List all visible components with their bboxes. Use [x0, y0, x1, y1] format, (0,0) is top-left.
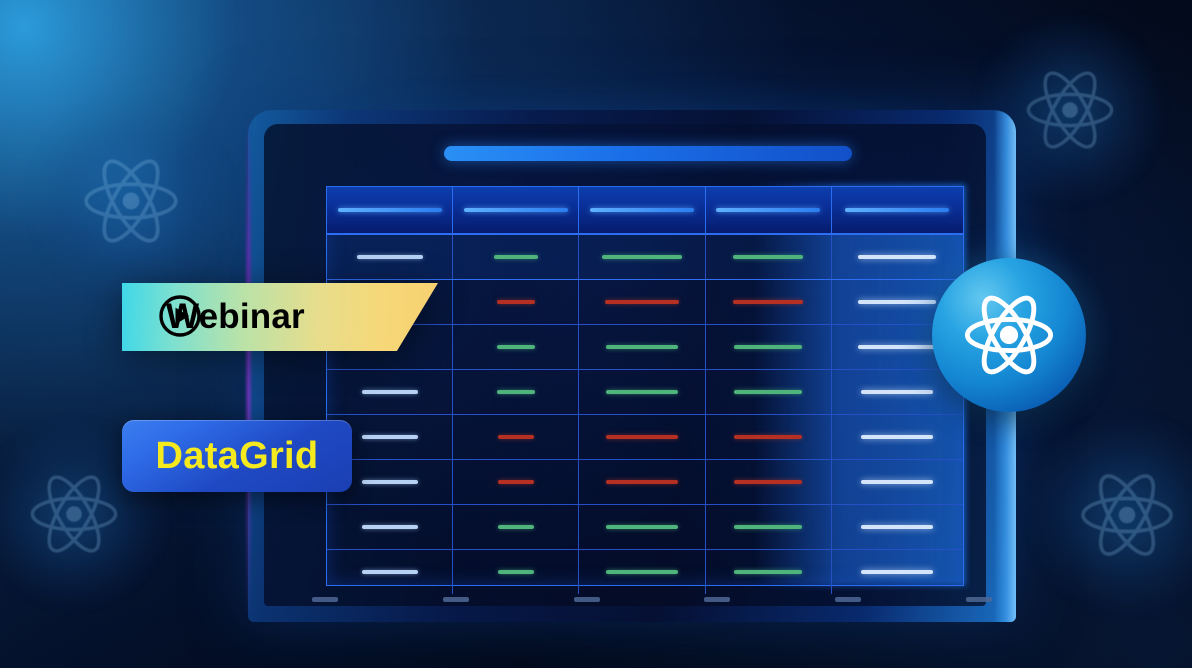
grid-cell[interactable]	[706, 325, 832, 369]
cell-value-bar	[494, 255, 538, 259]
grid-cell[interactable]	[453, 280, 579, 324]
cell-value-bar	[858, 345, 936, 349]
react-watermark-bottom-right	[1025, 413, 1192, 617]
cell-value-bar	[861, 570, 933, 574]
pagination-dashes[interactable]	[312, 597, 992, 602]
grid-cell[interactable]	[706, 550, 832, 594]
column-header-1[interactable]	[327, 187, 453, 233]
data-grid[interactable]	[326, 186, 964, 586]
header-label-bar	[716, 208, 820, 212]
cell-value-bar	[734, 435, 802, 439]
react-logo	[932, 258, 1086, 412]
grid-cell[interactable]	[706, 505, 832, 549]
datagrid-badge-label: DataGrid	[156, 435, 319, 478]
cell-value-bar	[858, 255, 936, 259]
grid-cell[interactable]	[832, 550, 963, 594]
grid-cell[interactable]	[327, 370, 453, 414]
grid-cell[interactable]	[832, 505, 963, 549]
cell-value-bar	[498, 570, 534, 574]
grid-cell[interactable]	[579, 235, 705, 279]
grid-cell[interactable]	[327, 550, 453, 594]
pagination-dash[interactable]	[835, 597, 861, 602]
grid-cell[interactable]	[579, 550, 705, 594]
grid-header-row[interactable]	[327, 187, 963, 234]
cell-value-bar	[497, 390, 535, 394]
grid-cell[interactable]	[327, 235, 453, 279]
cell-value-bar	[734, 390, 802, 394]
cell-value-bar	[602, 255, 682, 259]
grid-cell[interactable]	[453, 235, 579, 279]
grid-cell[interactable]	[579, 370, 705, 414]
grid-cell[interactable]	[706, 415, 832, 459]
grid-cell[interactable]	[706, 370, 832, 414]
cell-value-bar	[733, 255, 803, 259]
pagination-dash[interactable]	[312, 597, 338, 602]
grid-cell[interactable]	[579, 415, 705, 459]
grid-cell[interactable]	[832, 235, 963, 279]
react-watermark-top-left	[27, 97, 234, 304]
cell-value-bar	[362, 390, 418, 394]
cell-value-bar	[606, 345, 678, 349]
cell-value-bar	[861, 435, 933, 439]
laptop-left-edge	[246, 114, 251, 621]
pagination-dash[interactable]	[966, 597, 992, 602]
laptop-mockup	[248, 110, 1016, 622]
cell-value-bar	[734, 570, 802, 574]
cell-value-bar	[362, 570, 418, 574]
cell-value-bar	[498, 480, 534, 484]
cell-value-bar	[606, 480, 678, 484]
column-header-2[interactable]	[453, 187, 579, 233]
grid-row[interactable]	[327, 234, 963, 280]
pagination-dash[interactable]	[443, 597, 469, 602]
grid-cell[interactable]	[706, 280, 832, 324]
cell-value-bar	[606, 390, 678, 394]
grid-cell[interactable]	[453, 415, 579, 459]
grid-cell[interactable]	[706, 235, 832, 279]
grid-cell[interactable]	[579, 505, 705, 549]
laptop-lid	[248, 110, 1016, 622]
react-atom-icon	[957, 283, 1061, 387]
grid-cell[interactable]	[832, 415, 963, 459]
header-label-bar	[464, 208, 568, 212]
grid-cell[interactable]	[453, 550, 579, 594]
cell-value-bar	[734, 345, 802, 349]
grid-row[interactable]	[327, 370, 963, 415]
datagrid-badge[interactable]: DataGrid	[122, 420, 352, 492]
cell-value-bar	[357, 255, 423, 259]
grid-row[interactable]	[327, 505, 963, 550]
cell-value-bar	[606, 570, 678, 574]
cell-value-bar	[362, 435, 418, 439]
grid-row[interactable]	[327, 460, 963, 505]
grid-cell[interactable]	[453, 505, 579, 549]
grid-cell[interactable]	[453, 325, 579, 369]
cell-value-bar	[497, 345, 535, 349]
grid-cell[interactable]	[453, 370, 579, 414]
grid-row[interactable]	[327, 550, 963, 594]
cell-value-bar	[606, 525, 678, 529]
play-circle-icon	[158, 294, 202, 338]
cell-value-bar	[497, 300, 535, 304]
grid-cell[interactable]	[327, 505, 453, 549]
cell-value-bar	[734, 525, 802, 529]
cell-value-bar	[734, 480, 802, 484]
cell-value-bar	[733, 300, 803, 304]
promo-banner: Webinar DataGrid	[0, 0, 1192, 668]
column-header-3[interactable]	[579, 187, 705, 233]
header-label-bar	[338, 208, 442, 212]
grid-cell[interactable]	[706, 460, 832, 504]
pagination-dash[interactable]	[704, 597, 730, 602]
cell-value-bar	[858, 300, 936, 304]
grid-row[interactable]	[327, 415, 963, 460]
grid-cell[interactable]	[579, 325, 705, 369]
cell-value-bar	[498, 435, 534, 439]
grid-cell[interactable]	[453, 460, 579, 504]
cell-value-bar	[498, 525, 534, 529]
cell-value-bar	[606, 435, 678, 439]
header-label-bar	[590, 208, 694, 212]
header-label-bar	[845, 208, 949, 212]
cell-value-bar	[861, 390, 933, 394]
cell-value-bar	[362, 525, 418, 529]
cell-value-bar	[861, 525, 933, 529]
column-header-5[interactable]	[832, 187, 963, 233]
window-title-bar	[444, 146, 852, 161]
cell-value-bar	[362, 480, 418, 484]
cell-value-bar	[861, 480, 933, 484]
column-header-4[interactable]	[706, 187, 832, 233]
grid-cell[interactable]	[579, 460, 705, 504]
grid-cell[interactable]	[579, 280, 705, 324]
cell-value-bar	[605, 300, 679, 304]
pagination-dash[interactable]	[574, 597, 600, 602]
grid-cell[interactable]	[832, 460, 963, 504]
